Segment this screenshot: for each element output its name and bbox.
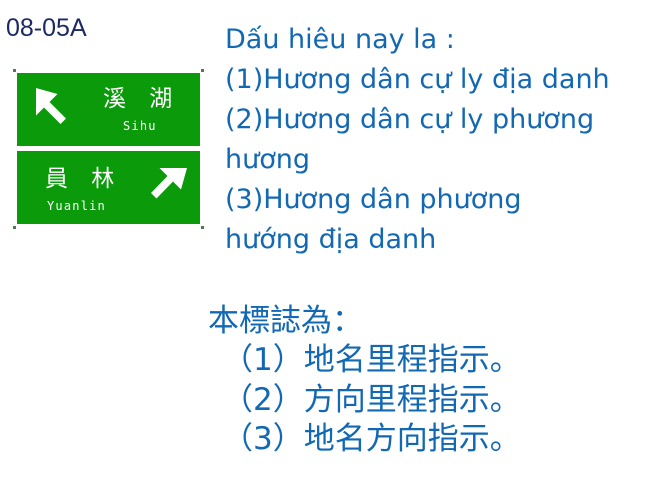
- selection-handle-bottom-left[interactable]: [13, 226, 16, 229]
- arrow-up-right-icon: [142, 165, 190, 213]
- chinese-description: 本標誌為： （1）地名里程指示。 （2）方向里程指示。 （3）地名方向指示。: [208, 302, 672, 459]
- vietnamese-heading: Dấu hiêu nay la :: [225, 20, 672, 60]
- sign-code-label: 08-05A: [6, 16, 87, 41]
- selection-handle-top-left[interactable]: [13, 69, 16, 72]
- sign-destination-en-yuanlin: Yuanlin: [47, 200, 106, 212]
- chinese-item-2: （2）方向里程指示。: [208, 381, 672, 420]
- selection-handle-bottom-right[interactable]: [201, 226, 204, 229]
- vietnamese-item-3: (3)Hương dân phương: [225, 180, 672, 220]
- sign-destination-cn-yuanlin: 員 林: [45, 168, 122, 191]
- vietnamese-item-2: (2)Hương dân cự ly phương: [225, 100, 672, 140]
- vietnamese-description: Dấu hiêu nay la : (1)Hương dân cự ly địa…: [225, 20, 672, 260]
- vietnamese-item-3-continuation: hướng địa danh: [225, 220, 672, 260]
- chinese-item-3: （3）地名方向指示。: [208, 420, 672, 459]
- arrow-up-left-icon: [33, 85, 81, 133]
- road-sign-figure[interactable]: 溪 湖 Sihu 員 林 Yuanlin: [13, 69, 204, 229]
- sign-destination-cn-sihu: 溪 湖: [103, 88, 180, 111]
- sign-destination-en-sihu: Sihu: [123, 120, 157, 132]
- sign-panel-sihu: 溪 湖 Sihu: [17, 73, 200, 146]
- chinese-heading: 本標誌為：: [208, 302, 672, 341]
- vietnamese-item-1: (1)Hương dân cự ly địa danh: [225, 60, 672, 100]
- selection-handle-top-right[interactable]: [201, 69, 204, 72]
- chinese-item-1: （1）地名里程指示。: [208, 341, 672, 380]
- sign-panel-yuanlin: 員 林 Yuanlin: [17, 151, 200, 224]
- vietnamese-item-2-continuation: hương: [225, 140, 672, 180]
